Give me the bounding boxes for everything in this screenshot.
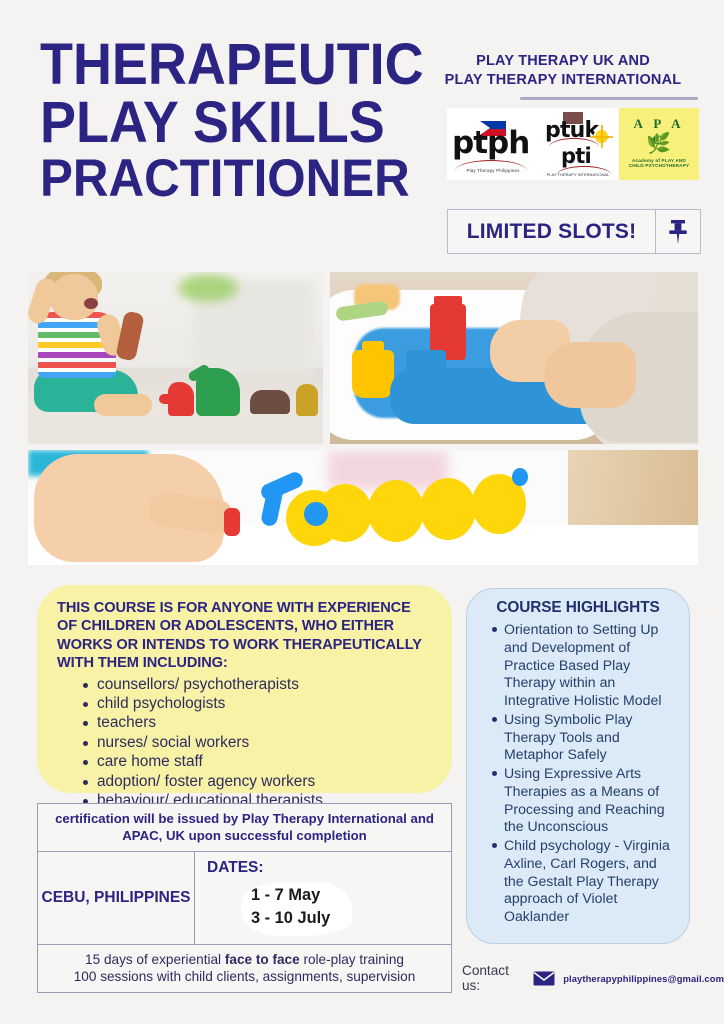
training-days-suffix: role-play training <box>300 952 404 967</box>
pushpin-glyph <box>668 219 688 245</box>
organization-line-2: PLAY THERAPY INTERNATIONAL <box>424 71 702 90</box>
course-highlights-title: COURSE HIGHLIGHTS <box>475 599 681 617</box>
limited-slots-label: LIMITED SLOTS! <box>448 210 655 253</box>
title-line-3: PRACTITIONER <box>40 154 393 203</box>
list-item: Orientation to Setting Up and Developmen… <box>493 621 679 710</box>
ptph-caption: Play Therapy Philippines <box>457 168 529 173</box>
title-line-2: PLAY SKILLS <box>40 96 393 150</box>
organization-header: PLAY THERAPY UK AND PLAY THERAPY INTERNA… <box>424 52 702 90</box>
dates-cell: DATES: 1 - 7 May 3 - 10 July <box>195 852 451 944</box>
list-item: teachers <box>83 714 434 732</box>
photo-playdough-caterpillar <box>28 450 698 565</box>
contact-block: Contact us: playtherapyphilippines@gmail… <box>462 963 724 993</box>
poster-root: THERAPEUTIC PLAY SKILLS PRACTITIONER PLA… <box>0 0 724 1024</box>
list-item: child psychologists <box>83 695 434 713</box>
sun-icon <box>595 130 608 143</box>
list-item: Using Expressive Arts Therapies as a Mea… <box>493 765 679 836</box>
ptuk-pti-logo: ptuk pti PLAY THERAPY INTERNATIONAL <box>537 108 619 180</box>
certification-text: certification will be issued by Play The… <box>38 804 451 852</box>
contact-label: Contact us: <box>462 963 525 993</box>
logo-strip: ptph Play Therapy Philippines ptuk pti P… <box>447 108 699 180</box>
list-item: Using Symbolic Play Therapy Tools and Me… <box>493 711 679 764</box>
leaf-icon: 🌿 <box>646 134 671 154</box>
apac-caption: Academy of PLAY AND CHILD PSYCHOTHERAPY <box>625 158 693 168</box>
pushpin-icon <box>655 210 700 253</box>
audience-list: counsellors/ psychotherapists child psyc… <box>57 676 434 811</box>
title-line-1: THERAPEUTIC <box>40 38 393 92</box>
page-title: THERAPEUTIC PLAY SKILLS PRACTITIONER <box>40 38 420 207</box>
pti-caption: PLAY THERAPY INTERNATIONAL <box>543 172 613 177</box>
pti-wordmark: pti <box>561 144 591 168</box>
envelope-icon <box>533 971 555 986</box>
date-option-1: 1 - 7 May <box>251 884 330 907</box>
list-item: nurses/ social workers <box>83 734 434 752</box>
photo-child-dinosaurs <box>28 272 323 444</box>
course-highlights-panel: COURSE HIGHLIGHTS Orientation to Setting… <box>466 588 690 944</box>
location-cell: CEBU, PHILIPPINES <box>38 852 195 944</box>
organization-line-1: PLAY THERAPY UK AND <box>424 52 702 71</box>
list-item: care home staff <box>83 753 434 771</box>
training-summary: 15 days of experiential face to face rol… <box>38 945 451 992</box>
training-summary-line-2: 100 sessions with child clients, assignm… <box>46 968 443 985</box>
certification-table: certification will be issued by Play The… <box>37 803 452 993</box>
header-divider <box>520 97 698 100</box>
apac-logo: A P A C 🌿 Academy of PLAY AND CHILD PSYC… <box>619 108 699 180</box>
date-option-2: 3 - 10 July <box>251 907 330 930</box>
limited-slots-banner: LIMITED SLOTS! <box>447 209 701 254</box>
location-dates-row: CEBU, PHILIPPINES DATES: 1 - 7 May 3 - 1… <box>38 852 451 945</box>
ptph-logo: ptph Play Therapy Philippines <box>447 108 537 180</box>
training-days-prefix: 15 days of experiential <box>85 952 225 967</box>
course-highlights-list: Orientation to Setting Up and Developmen… <box>475 621 681 926</box>
audience-heading: THIS COURSE IS FOR ANYONE WITH EXPERIENC… <box>57 599 434 673</box>
envelope-glyph <box>533 971 555 986</box>
face-to-face-emphasis: face to face <box>225 952 300 967</box>
list-item: counsellors/ psychotherapists <box>83 676 434 694</box>
photo-kinetic-sand <box>330 272 698 444</box>
list-item: adoption/ foster agency workers <box>83 773 434 791</box>
contact-email[interactable]: playtherapyphilippines@gmail.com <box>563 973 724 984</box>
list-item: Child psychology - Virginia Axline, Carl… <box>493 837 679 926</box>
dates-label: DATES: <box>207 859 441 877</box>
dates-highlight: 1 - 7 May 3 - 10 July <box>241 882 352 936</box>
training-summary-line-1: 15 days of experiential face to face rol… <box>46 951 443 968</box>
ptph-wordmark: ptph <box>452 128 529 159</box>
audience-panel: THIS COURSE IS FOR ANYONE WITH EXPERIENC… <box>37 585 452 793</box>
